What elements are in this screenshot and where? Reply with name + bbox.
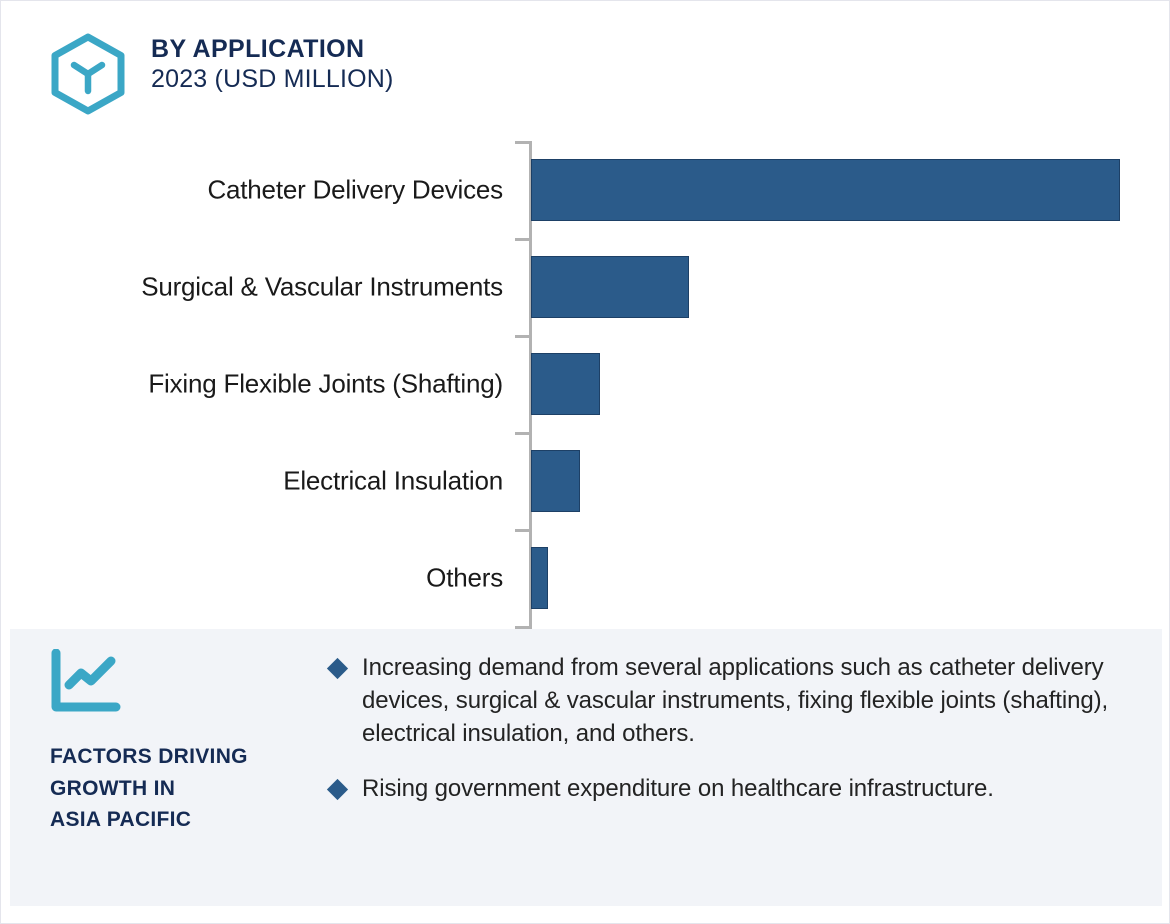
bullet-list: Increasing demand from several applicati…: [330, 651, 1120, 827]
bullet-text: Increasing demand from several applicati…: [362, 651, 1120, 750]
chart-row: Electrical Insulation: [1, 432, 1170, 529]
chart-header: BY APPLICATION 2023 (USD MILLION): [49, 29, 394, 115]
bar-electrical-insulation[interactable]: [531, 450, 580, 512]
list-item: Increasing demand from several applicati…: [330, 651, 1120, 750]
bar-fixing-flexible-joints[interactable]: [531, 353, 600, 415]
page-subtitle: 2023 (USD MILLION): [151, 65, 394, 95]
list-item: Rising government expenditure on healthc…: [330, 772, 1120, 805]
category-label: Electrical Insulation: [283, 465, 503, 496]
category-label: Others: [426, 562, 503, 593]
growth-chart-icon: [50, 649, 122, 715]
diamond-bullet-icon: [327, 779, 348, 800]
category-label: Fixing Flexible Joints (Shafting): [148, 368, 503, 399]
page-title: BY APPLICATION: [151, 35, 394, 65]
panel-left-column: FACTORS DRIVING GROWTH IN ASIA PACIFIC: [50, 649, 335, 836]
bar-others[interactable]: [531, 547, 548, 609]
chart-row: Fixing Flexible Joints (Shafting): [1, 335, 1170, 432]
diamond-bullet-icon: [327, 658, 348, 679]
chart-row: Surgical & Vascular Instruments: [1, 238, 1170, 335]
bar-catheter-delivery-devices[interactable]: [531, 159, 1120, 221]
header-text-block: BY APPLICATION 2023 (USD MILLION): [151, 35, 394, 94]
category-label: Catheter Delivery Devices: [207, 174, 503, 205]
bullet-text: Rising government expenditure on healthc…: [362, 772, 994, 805]
chart-row: Catheter Delivery Devices: [1, 141, 1170, 238]
panel-heading: FACTORS DRIVING GROWTH IN ASIA PACIFIC: [50, 741, 335, 836]
infographic-card: BY APPLICATION 2023 (USD MILLION) Cathet…: [0, 0, 1170, 924]
category-label: Surgical & Vascular Instruments: [141, 271, 503, 302]
bar-chart: Catheter Delivery Devices Surgical & Vas…: [1, 131, 1170, 629]
factors-panel: FACTORS DRIVING GROWTH IN ASIA PACIFIC I…: [10, 629, 1162, 906]
bar-surgical-vascular-instruments[interactable]: [531, 256, 689, 318]
chart-row: Others: [1, 529, 1170, 626]
hexagon-y-icon: [49, 33, 127, 115]
